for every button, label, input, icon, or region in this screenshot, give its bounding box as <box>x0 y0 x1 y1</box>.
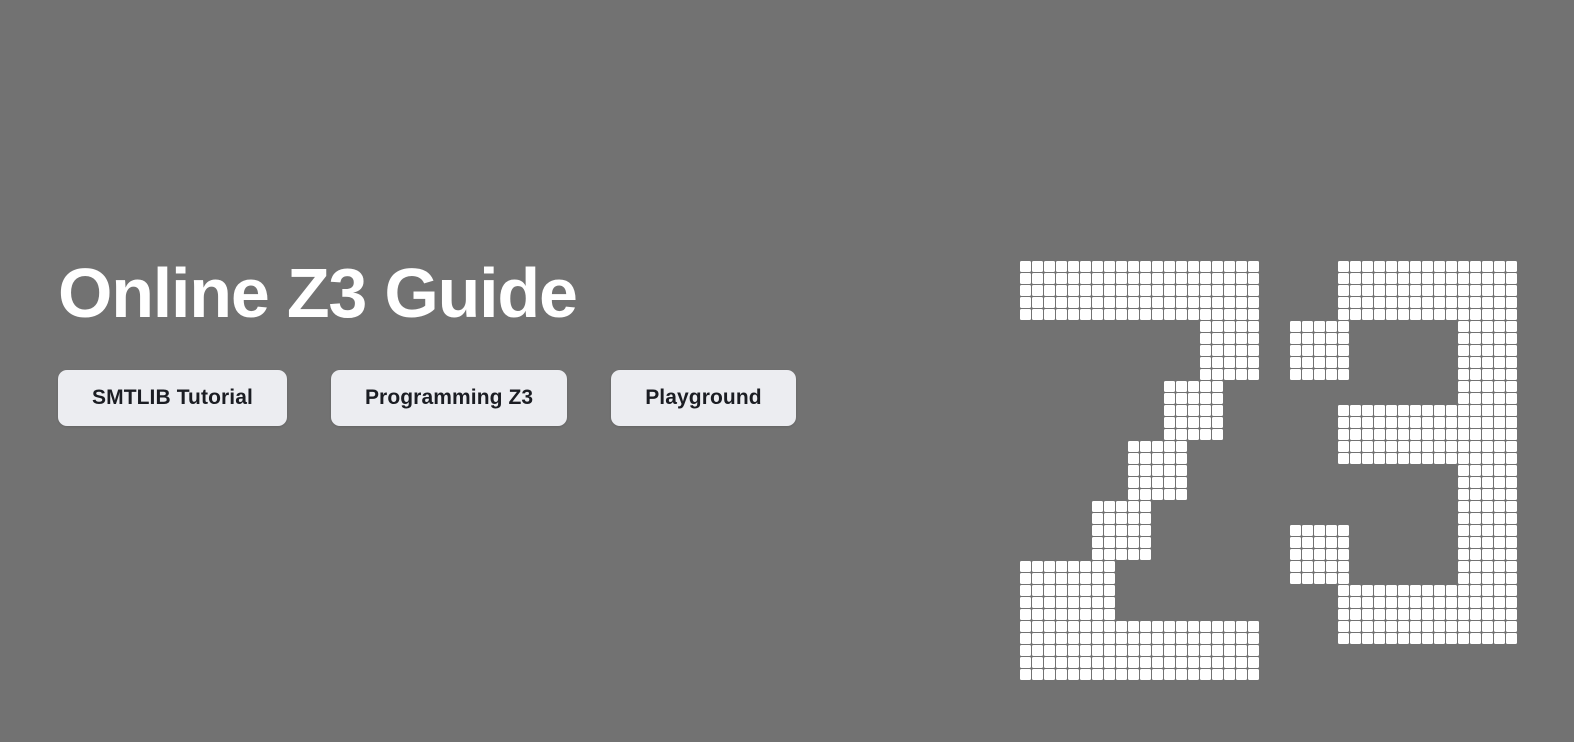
logo-cell <box>1200 321 1211 332</box>
logo-cell <box>1446 273 1457 284</box>
logo-cell <box>1506 489 1517 500</box>
logo-cell <box>1482 621 1493 632</box>
logo-cell <box>1386 285 1397 296</box>
logo-cell <box>1128 549 1139 560</box>
logo-cell <box>1506 549 1517 560</box>
logo-cell <box>1152 309 1163 320</box>
logo-cell <box>1056 621 1067 632</box>
logo-cell <box>1176 393 1187 404</box>
logo-cell <box>1362 597 1373 608</box>
logo-cell <box>1506 345 1517 356</box>
logo-cell <box>1374 417 1385 428</box>
logo-cell <box>1092 621 1103 632</box>
logo-cell <box>1128 309 1139 320</box>
logo-cell <box>1338 561 1349 572</box>
logo-cell <box>1044 297 1055 308</box>
logo-cell <box>1236 297 1247 308</box>
logo-cell <box>1482 501 1493 512</box>
logo-cell <box>1104 657 1115 668</box>
logo-cell <box>1200 333 1211 344</box>
logo-cell <box>1338 309 1349 320</box>
logo-cell <box>1248 273 1259 284</box>
logo-cell <box>1458 489 1469 500</box>
logo-cell <box>1398 429 1409 440</box>
logo-cell <box>1422 453 1433 464</box>
logo-cell <box>1140 297 1151 308</box>
logo-block <box>1458 525 1517 584</box>
logo-cell <box>1236 285 1247 296</box>
logo-cell <box>1398 285 1409 296</box>
logo-cell <box>1506 369 1517 380</box>
logo-cell <box>1092 297 1103 308</box>
logo-cell <box>1302 573 1313 584</box>
logo-cell <box>1068 573 1079 584</box>
logo-cell <box>1128 525 1139 536</box>
logo-cell <box>1044 609 1055 620</box>
logo-cell <box>1338 441 1349 452</box>
logo-cell <box>1494 621 1505 632</box>
logo-cell <box>1458 573 1469 584</box>
logo-cell <box>1398 417 1409 428</box>
logo-cell <box>1482 273 1493 284</box>
logo-cell <box>1314 525 1325 536</box>
logo-cell <box>1494 561 1505 572</box>
logo-cell <box>1200 273 1211 284</box>
logo-cell <box>1494 513 1505 524</box>
logo-cell <box>1080 297 1091 308</box>
logo-cell <box>1212 381 1223 392</box>
logo-cell <box>1056 597 1067 608</box>
logo-cell <box>1362 273 1373 284</box>
logo-cell <box>1104 525 1115 536</box>
logo-cell <box>1470 561 1481 572</box>
logo-cell <box>1188 273 1199 284</box>
smtlib-tutorial-button[interactable]: SMTLIB Tutorial <box>58 370 287 426</box>
logo-cell <box>1164 657 1175 668</box>
logo-cell <box>1458 417 1469 428</box>
logo-cell <box>1044 633 1055 644</box>
logo-cell <box>1374 633 1385 644</box>
logo-cell <box>1398 405 1409 416</box>
logo-cell <box>1104 621 1115 632</box>
logo-cell <box>1470 573 1481 584</box>
logo-cell <box>1248 357 1259 368</box>
logo-cell <box>1152 465 1163 476</box>
logo-cell <box>1200 369 1211 380</box>
logo-cell <box>1350 297 1361 308</box>
logo-cell <box>1020 657 1031 668</box>
logo-cell <box>1458 585 1469 596</box>
logo-cell <box>1116 297 1127 308</box>
logo-cell <box>1470 405 1481 416</box>
logo-cell <box>1506 465 1517 476</box>
logo-cell <box>1044 669 1055 680</box>
logo-cell <box>1470 321 1481 332</box>
logo-cell <box>1458 549 1469 560</box>
logo-cell <box>1020 573 1031 584</box>
logo-cell <box>1458 621 1469 632</box>
logo-cell <box>1302 357 1313 368</box>
logo-cell <box>1224 321 1235 332</box>
logo-cell <box>1188 417 1199 428</box>
logo-cell <box>1482 321 1493 332</box>
logo-cell <box>1482 297 1493 308</box>
logo-cell <box>1470 381 1481 392</box>
logo-cell <box>1290 321 1301 332</box>
logo-cell <box>1104 609 1115 620</box>
logo-cell <box>1458 501 1469 512</box>
logo-cell <box>1212 333 1223 344</box>
logo-cell <box>1494 477 1505 488</box>
logo-cell <box>1314 369 1325 380</box>
logo-cell <box>1164 645 1175 656</box>
logo-cell <box>1302 549 1313 560</box>
logo-cell <box>1350 261 1361 272</box>
logo-cell <box>1140 525 1151 536</box>
logo-cell <box>1164 393 1175 404</box>
logo-cell <box>1302 537 1313 548</box>
logo-cell <box>1350 405 1361 416</box>
logo-cell <box>1506 297 1517 308</box>
logo-cell <box>1506 273 1517 284</box>
logo-cell <box>1248 645 1259 656</box>
logo-cell <box>1302 561 1313 572</box>
logo-cell <box>1470 333 1481 344</box>
logo-cell <box>1128 477 1139 488</box>
logo-cell <box>1248 669 1259 680</box>
logo-cell <box>1398 585 1409 596</box>
programming-z3-button[interactable]: Programming Z3 <box>331 370 567 426</box>
logo-cell <box>1140 261 1151 272</box>
logo-cell <box>1458 429 1469 440</box>
logo-cell <box>1386 453 1397 464</box>
logo-cell <box>1362 405 1373 416</box>
logo-cell <box>1176 441 1187 452</box>
logo-cell <box>1176 465 1187 476</box>
logo-cell <box>1140 669 1151 680</box>
logo-cell <box>1482 357 1493 368</box>
logo-cell <box>1044 657 1055 668</box>
logo-cell <box>1290 537 1301 548</box>
logo-cell <box>1164 297 1175 308</box>
logo-cell <box>1056 297 1067 308</box>
logo-cell <box>1386 597 1397 608</box>
logo-cell <box>1506 621 1517 632</box>
logo-cell <box>1056 273 1067 284</box>
logo-cell <box>1506 477 1517 488</box>
logo-cell <box>1164 285 1175 296</box>
logo-cell <box>1290 561 1301 572</box>
logo-cell <box>1494 357 1505 368</box>
logo-cell <box>1224 261 1235 272</box>
logo-cell <box>1020 309 1031 320</box>
logo-cell <box>1104 585 1115 596</box>
logo-cell <box>1020 669 1031 680</box>
playground-button[interactable]: Playground <box>611 370 796 426</box>
logo-cell <box>1248 309 1259 320</box>
logo-cell <box>1152 297 1163 308</box>
logo-cell <box>1176 429 1187 440</box>
logo-cell <box>1458 597 1469 608</box>
logo-cell <box>1422 441 1433 452</box>
logo-cell <box>1458 261 1469 272</box>
logo-cell <box>1374 285 1385 296</box>
logo-cell <box>1092 309 1103 320</box>
logo-cell <box>1470 477 1481 488</box>
logo-cell <box>1470 417 1481 428</box>
logo-cell <box>1482 441 1493 452</box>
logo-cell <box>1044 561 1055 572</box>
logo-cell <box>1470 393 1481 404</box>
logo-cell <box>1224 285 1235 296</box>
logo-cell <box>1434 261 1445 272</box>
logo-cell <box>1212 369 1223 380</box>
logo-cell <box>1080 669 1091 680</box>
logo-cell <box>1200 633 1211 644</box>
logo-cell <box>1224 333 1235 344</box>
logo-cell <box>1068 645 1079 656</box>
logo-cell <box>1200 261 1211 272</box>
logo-cell <box>1422 261 1433 272</box>
logo-cell <box>1152 453 1163 464</box>
logo-cell <box>1224 669 1235 680</box>
logo-cell <box>1056 633 1067 644</box>
logo-cell <box>1398 609 1409 620</box>
logo-cell <box>1506 633 1517 644</box>
logo-cell <box>1494 465 1505 476</box>
logo-cell <box>1032 621 1043 632</box>
hero-text-block: Online Z3 Guide SMTLIB Tutorial Programm… <box>58 258 958 426</box>
logo-cell <box>1494 381 1505 392</box>
logo-cell <box>1080 645 1091 656</box>
logo-cell <box>1032 657 1043 668</box>
logo-cell <box>1164 405 1175 416</box>
logo-cell <box>1458 537 1469 548</box>
logo-cell <box>1482 405 1493 416</box>
logo-cell <box>1326 525 1337 536</box>
logo-cell <box>1362 285 1373 296</box>
logo-cell <box>1032 585 1043 596</box>
logo-cell <box>1188 381 1199 392</box>
logo-cell <box>1362 609 1373 620</box>
logo-cell <box>1350 609 1361 620</box>
logo-cell <box>1386 417 1397 428</box>
logo-cell <box>1128 501 1139 512</box>
logo-cell <box>1302 321 1313 332</box>
logo-cell <box>1212 309 1223 320</box>
logo-cell <box>1128 453 1139 464</box>
logo-cell <box>1176 417 1187 428</box>
logo-cell <box>1350 621 1361 632</box>
logo-cell <box>1236 309 1247 320</box>
logo-cell <box>1152 633 1163 644</box>
logo-cell <box>1434 285 1445 296</box>
logo-cell <box>1080 597 1091 608</box>
logo-cell <box>1326 561 1337 572</box>
logo-cell <box>1140 453 1151 464</box>
logo-cell <box>1056 645 1067 656</box>
logo-cell <box>1080 573 1091 584</box>
logo-cell <box>1200 393 1211 404</box>
logo-cell <box>1494 321 1505 332</box>
logo-cell <box>1224 273 1235 284</box>
logo-cell <box>1092 657 1103 668</box>
logo-cell <box>1458 513 1469 524</box>
logo-cell <box>1164 309 1175 320</box>
logo-cell <box>1458 369 1469 380</box>
logo-cell <box>1410 285 1421 296</box>
logo-cell <box>1056 585 1067 596</box>
logo-cell <box>1128 285 1139 296</box>
logo-cell <box>1398 273 1409 284</box>
logo-cell <box>1506 561 1517 572</box>
logo-cell <box>1200 297 1211 308</box>
logo-cell <box>1092 285 1103 296</box>
logo-cell <box>1020 597 1031 608</box>
logo-cell <box>1248 285 1259 296</box>
logo-cell <box>1092 513 1103 524</box>
logo-cell <box>1068 273 1079 284</box>
logo-cell <box>1470 453 1481 464</box>
logo-block <box>1458 321 1517 380</box>
logo-cell <box>1092 561 1103 572</box>
logo-cell <box>1470 597 1481 608</box>
logo-cell <box>1362 633 1373 644</box>
logo-cell <box>1362 621 1373 632</box>
logo-cell <box>1152 657 1163 668</box>
logo-cell <box>1410 609 1421 620</box>
logo-cell <box>1482 513 1493 524</box>
logo-cell <box>1422 609 1433 620</box>
logo-cell <box>1494 549 1505 560</box>
logo-cell <box>1116 525 1127 536</box>
logo-cell <box>1236 669 1247 680</box>
logo-cell <box>1386 261 1397 272</box>
logo-cell <box>1176 285 1187 296</box>
logo-cell <box>1470 309 1481 320</box>
logo-cell <box>1290 369 1301 380</box>
logo-cell <box>1314 561 1325 572</box>
logo-cell <box>1482 609 1493 620</box>
logo-cell <box>1164 441 1175 452</box>
logo-cell <box>1338 333 1349 344</box>
hero-button-group: SMTLIB Tutorial Programming Z3 Playgroun… <box>58 370 958 426</box>
logo-cell <box>1200 657 1211 668</box>
logo-cell <box>1044 645 1055 656</box>
logo-cell <box>1248 297 1259 308</box>
logo-cell <box>1128 441 1139 452</box>
logo-cell <box>1446 405 1457 416</box>
logo-block <box>1338 261 1517 320</box>
logo-cell <box>1506 453 1517 464</box>
logo-cell <box>1092 633 1103 644</box>
logo-cell <box>1236 621 1247 632</box>
logo-cell <box>1188 669 1199 680</box>
logo-cell <box>1446 597 1457 608</box>
logo-cell <box>1470 261 1481 272</box>
logo-cell <box>1410 441 1421 452</box>
logo-cell <box>1248 369 1259 380</box>
logo-cell <box>1236 357 1247 368</box>
logo-cell <box>1434 597 1445 608</box>
logo-cell <box>1164 453 1175 464</box>
logo-cell <box>1338 585 1349 596</box>
logo-cell <box>1032 573 1043 584</box>
logo-cell <box>1140 309 1151 320</box>
logo-cell <box>1338 405 1349 416</box>
logo-cell <box>1128 657 1139 668</box>
logo-cell <box>1116 657 1127 668</box>
logo-cell <box>1506 285 1517 296</box>
logo-cell <box>1434 417 1445 428</box>
logo-cell <box>1338 345 1349 356</box>
logo-cell <box>1092 549 1103 560</box>
logo-cell <box>1116 621 1127 632</box>
logo-cell <box>1044 597 1055 608</box>
logo-cell <box>1116 669 1127 680</box>
logo-cell <box>1140 489 1151 500</box>
logo-cell <box>1164 465 1175 476</box>
logo-cell <box>1338 597 1349 608</box>
logo-cell <box>1410 621 1421 632</box>
logo-cell <box>1164 489 1175 500</box>
logo-cell <box>1494 405 1505 416</box>
logo-cell <box>1020 261 1031 272</box>
logo-cell <box>1236 369 1247 380</box>
logo-cell <box>1470 549 1481 560</box>
logo-cell <box>1032 561 1043 572</box>
logo-cell <box>1068 633 1079 644</box>
logo-cell <box>1422 309 1433 320</box>
logo-cell <box>1398 621 1409 632</box>
logo-cell <box>1248 261 1259 272</box>
logo-cell <box>1494 369 1505 380</box>
logo-cell <box>1068 669 1079 680</box>
logo-cell <box>1326 369 1337 380</box>
logo-cell <box>1398 309 1409 320</box>
logo-cell <box>1434 621 1445 632</box>
logo-cell <box>1338 321 1349 332</box>
logo-cell <box>1068 597 1079 608</box>
logo-cell <box>1116 537 1127 548</box>
logo-cell <box>1104 537 1115 548</box>
logo-cell <box>1374 429 1385 440</box>
logo-cell <box>1458 297 1469 308</box>
logo-cell <box>1140 513 1151 524</box>
logo-cell <box>1152 273 1163 284</box>
logo-cell <box>1458 321 1469 332</box>
logo-cell <box>1020 633 1031 644</box>
logo-cell <box>1128 633 1139 644</box>
logo-cell <box>1224 297 1235 308</box>
logo-cell <box>1470 513 1481 524</box>
logo-cell <box>1020 621 1031 632</box>
logo-cell <box>1506 393 1517 404</box>
logo-cell <box>1338 549 1349 560</box>
logo-cell <box>1482 597 1493 608</box>
logo-block <box>1458 465 1517 524</box>
logo-cell <box>1446 453 1457 464</box>
logo-cell <box>1470 633 1481 644</box>
logo-block <box>1290 525 1349 584</box>
logo-block <box>1128 441 1187 500</box>
logo-cell <box>1056 561 1067 572</box>
logo-cell <box>1362 297 1373 308</box>
logo-cell <box>1506 441 1517 452</box>
logo-cell <box>1032 633 1043 644</box>
logo-cell <box>1188 285 1199 296</box>
logo-cell <box>1494 597 1505 608</box>
